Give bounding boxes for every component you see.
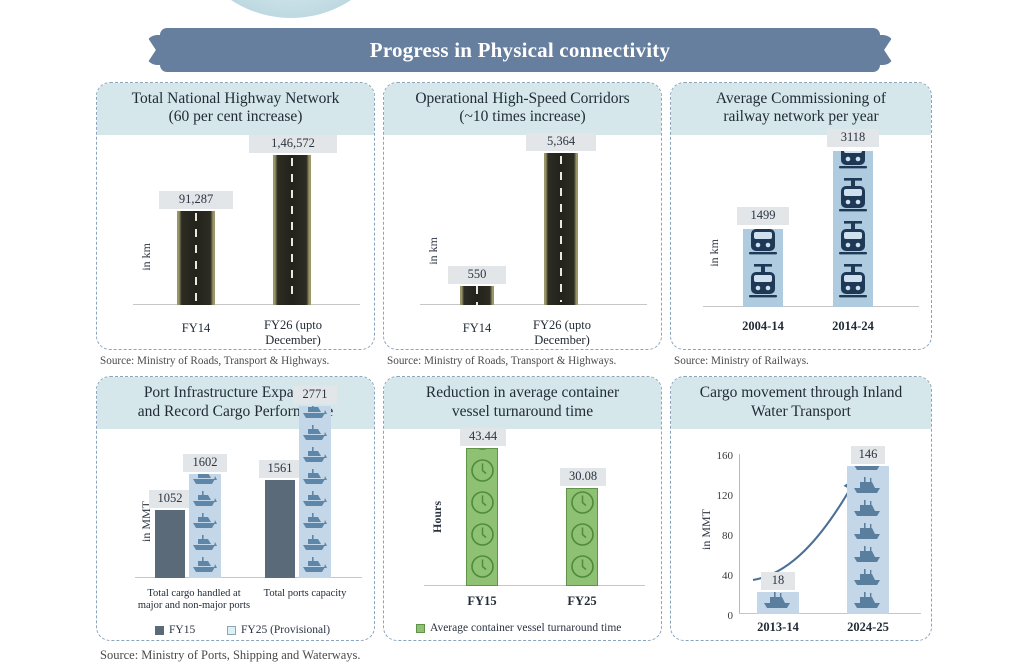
panel-high-speed-corridors: Operational High-Speed Corridors (~10 ti… [383,82,662,350]
value-label-2014-24: 3118 [827,129,879,147]
ship-icon [190,556,220,578]
bar-2013-14 [757,592,799,614]
panel-railway-commissioning: Average Commissioning of railway network… [670,82,932,350]
bar-fy26 [273,155,311,305]
boat-icon [761,592,795,614]
bar-fy25-ports-capacity [299,406,331,578]
value-label-fy15-ports-capacity: 1561 [259,460,301,478]
train-icon [835,178,871,221]
value-label-2004-14: 1499 [737,207,789,225]
legend-turnaround-time[interactable]: Average container vessel turnaround time [416,622,621,634]
category-label-fy25: FY25 [556,594,608,608]
train-icon [745,229,781,264]
y-tick-160: 160 [707,450,733,462]
x-axis-line [703,306,919,308]
clock-icon [569,553,596,585]
legend-label-fy15: FY15 [169,624,195,636]
page-title: Progress in Physical connectivity [370,38,670,63]
panel-col-port-infrastructure: Port Infrastructure Expansion and Record… [96,376,375,641]
panel-col-vessel-turnaround-time: Reduction in average container vessel tu… [383,376,662,641]
panel-col-high-speed-corridors: Operational High-Speed Corridors (~10 ti… [383,82,662,367]
bar-2014-24 [833,151,873,307]
ship-icon [300,490,330,512]
clock-icon [569,521,596,553]
value-label-fy15-cargo-handled: 1052 [149,490,191,508]
y-tick-80: 80 [707,530,733,542]
x-axis-line [420,304,647,306]
bar-fy15-ports-capacity [265,480,295,578]
panel-title-line2: railway network per year [677,108,925,126]
panel-row-bottom: Port Infrastructure Expansion and Record… [96,376,932,641]
legend-swatch-fy25 [227,626,236,635]
ship-icon [190,534,220,556]
ship-icon [190,474,220,490]
panel-title-line1: Total National Highway Network [103,90,368,108]
road-centerline [291,158,294,302]
bar-fy26 [544,153,578,305]
panel-title-vessel-turnaround-time: Reduction in average container vessel tu… [384,377,661,429]
chart-inland-water-transport: in MMT 160 120 80 40 0 [671,429,931,640]
train-icon [835,264,871,307]
panel-title-line2: vessel turnaround time [390,403,655,421]
category-label-ports-capacity: Total ports capacity [253,588,357,600]
bar-fy14 [177,211,215,305]
y-axis-label: in km [139,243,154,271]
ship-icon [300,406,330,424]
source-high-speed-corridors: Source: Ministry of Roads, Transport & H… [383,350,662,367]
legend-label-fy25: FY25 (Provisional) [241,624,330,636]
train-icon [835,221,871,264]
y-axis-line [739,454,740,614]
ship-icon [300,534,330,556]
legend-swatch-fy15 [155,626,164,635]
ship-icon [300,556,330,578]
boat-icon [851,522,885,545]
category-label-fy14: FY14 [446,321,508,335]
panel-title-line1: Operational High-Speed Corridors [390,90,655,108]
road-centerline [476,286,479,304]
y-tick-40: 40 [707,570,733,582]
source-port-infrastructure: Source: Ministry of Ports, Shipping and … [96,641,932,663]
value-label-fy14: 91,287 [159,191,233,209]
category-label-2024-25: 2024-25 [837,620,899,634]
ship-icon [190,512,220,534]
bar-fy25 [566,488,598,586]
clock-icon [569,489,596,521]
category-label-fy26: FY26 (uptoDecember) [518,318,606,347]
panel-title-national-highway-network: Total National Highway Network (60 per c… [97,83,374,135]
clock-icon [469,489,496,521]
value-label-fy14: 550 [448,266,506,284]
boat-icon [851,591,885,614]
value-label-fy25-ports-capacity: 2771 [293,386,337,404]
panel-col-inland-water-transport: Cargo movement through Inland Water Tran… [670,376,932,641]
panel-title-line2: (60 per cent increase) [103,108,368,126]
y-axis-label: Hours [430,501,445,533]
value-label-fy15: 43.44 [460,428,506,446]
category-label-2004-14: 2004-14 [729,319,797,333]
panel-inland-water-transport: Cargo movement through Inland Water Tran… [670,376,932,641]
bar-fy25-cargo-handled [189,474,221,578]
panel-col-railway-commissioning: Average Commissioning of railway network… [670,82,932,367]
boat-icon [851,545,885,568]
bar-fy15-cargo-handled [155,510,185,578]
value-label-fy25-cargo-handled: 1602 [183,454,227,472]
y-tick-120: 120 [707,490,733,502]
bar-2024-25 [847,466,889,614]
panel-title-railway-commissioning: Average Commissioning of railway network… [671,83,931,135]
panel-grid: Total National Highway Network (60 per c… [96,82,932,663]
legend-fy25[interactable]: FY25 (Provisional) [227,624,330,636]
boat-icon [851,568,885,591]
clock-icon [469,448,496,457]
clock-icon [469,457,496,489]
category-label-fy26: FY26 (uptoDecember) [249,318,337,347]
value-label-fy26: 1,46,572 [249,135,337,153]
legend-label-turnaround-time: Average container vessel turnaround time [430,622,621,634]
category-label-fy15: FY15 [456,594,508,608]
category-label-fy14: FY14 [159,321,233,335]
banner-body: Progress in Physical connectivity [160,28,880,72]
chart-port-infrastructure: in MMT 1052 1602 [97,429,374,640]
y-tick-0: 0 [707,610,733,622]
y-axis-label: in km [426,237,441,265]
category-label-cargo-handled: Total cargo handled atmajor and non-majo… [135,588,253,612]
train-icon [835,151,871,178]
title-banner: Progress in Physical connectivity [146,28,894,72]
source-national-highway-network: Source: Ministry of Roads, Transport & H… [96,350,375,367]
panel-row-top: Total National Highway Network (60 per c… [96,82,932,367]
value-label-2013-14: 18 [761,572,795,590]
x-axis-line [424,585,645,587]
road-centerline [560,156,563,302]
clock-icon [469,521,496,553]
panel-port-infrastructure: Port Infrastructure Expansion and Record… [96,376,375,641]
y-axis-label: in km [707,239,722,267]
panel-title-line1: Average Commissioning of [677,90,925,108]
road-centerline [195,213,198,303]
train-icon [745,264,781,307]
legend-fy15[interactable]: FY15 [155,624,195,636]
bar-2004-14 [743,229,783,307]
x-axis-line [133,304,360,306]
panel-title-line2: Water Transport [677,403,925,421]
category-label-2014-24: 2014-24 [819,319,887,333]
ship-icon [300,446,330,468]
chart-railway-commissioning: in km [671,135,931,349]
value-label-fy26: 5,364 [526,133,596,151]
chart-national-highway-network: in km 91,287 FY14 1,46,572 [97,135,374,349]
clock-icon [469,553,496,585]
source-railway-commissioning: Source: Ministry of Railways. [670,350,932,367]
panel-title-line1: Reduction in average container [390,384,655,402]
chart-vessel-turnaround-time: Hours 43.44 FY15 [384,429,661,640]
panel-title-line1: Cargo movement through Inland [677,384,925,402]
panel-title-line2: (~10 times increase) [390,108,655,126]
category-label-2013-14: 2013-14 [747,620,809,634]
boat-icon [851,466,885,476]
legend-swatch-turnaround-time [416,624,425,633]
panel-title-inland-water-transport: Cargo movement through Inland Water Tran… [671,377,931,429]
decorative-arc [182,0,400,18]
panel-national-highway-network: Total National Highway Network (60 per c… [96,82,375,350]
panel-vessel-turnaround-time: Reduction in average container vessel tu… [383,376,662,641]
chart-high-speed-corridors: in km 550 FY14 5,364 FY26 (uptoDecember) [384,135,661,349]
value-label-fy25: 30.08 [560,468,606,486]
ship-icon [300,468,330,490]
ship-icon [190,490,220,512]
bar-fy15 [466,448,498,586]
ship-icon [300,424,330,446]
panel-title-high-speed-corridors: Operational High-Speed Corridors (~10 ti… [384,83,661,135]
value-label-2024-25: 146 [851,446,885,464]
boat-icon [851,499,885,522]
bar-fy14 [460,286,494,305]
ship-icon [300,512,330,534]
boat-icon [851,476,885,499]
panel-col-national-highway-network: Total National Highway Network (60 per c… [96,82,375,367]
